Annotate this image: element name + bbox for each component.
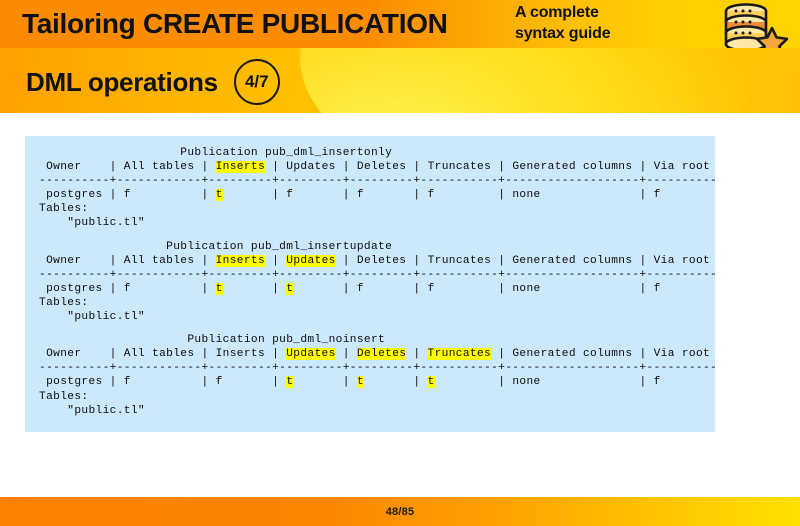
table-entry-text: "public.tl" xyxy=(39,311,145,323)
cell-deletes: f xyxy=(357,189,364,201)
table-header-row: Owner | All tables | Inserts | Updates |… xyxy=(39,347,715,361)
table-separator-text: ----------+------------+---------+------… xyxy=(39,175,715,187)
publication-caption: Publication pub_dml_insertonly xyxy=(39,146,715,160)
cell-text: | xyxy=(223,283,287,295)
column-header-updates: Updates xyxy=(286,348,335,360)
cell-truncates: t xyxy=(428,376,435,388)
table-header-row: Owner | All tables | Inserts | Updates |… xyxy=(39,254,715,268)
table-data-row: postgres | f | t | t | f | f | none | f xyxy=(39,282,715,296)
table-entry: "public.tl" xyxy=(39,216,715,230)
column-header-deletes: Deletes xyxy=(357,348,406,360)
table-header-row: Owner | All tables | Inserts | Updates |… xyxy=(39,160,715,174)
column-header-text: | Generated columns | Via root xyxy=(491,348,710,360)
cell-inserts: t xyxy=(216,283,223,295)
column-header-text: | xyxy=(265,255,286,267)
publication-caption-text: Publication pub_dml_noinsert xyxy=(39,334,385,346)
tables-label: Tables: xyxy=(39,390,715,404)
column-header-text: | xyxy=(336,161,357,173)
cell-text: postgres | f | f | xyxy=(39,376,286,388)
cell-text: | none | f xyxy=(435,376,661,388)
table-separator-row: ----------+------------+---------+------… xyxy=(39,174,715,188)
column-header-deletes: Deletes xyxy=(357,255,406,267)
column-header-text: | xyxy=(336,255,357,267)
column-header-text: Owner | All tables | Inserts | xyxy=(39,348,286,360)
publication-caption-text: Publication pub_dml_insertupdate xyxy=(39,241,392,253)
cell-text: | xyxy=(364,376,428,388)
publication-caption-text: Publication pub_dml_insertonly xyxy=(39,147,392,159)
table-entry: "public.tl" xyxy=(39,310,715,324)
page-number: 48/85 xyxy=(386,506,415,518)
column-header-text: | Generated columns | Via root xyxy=(491,161,710,173)
cell-text: | none | f xyxy=(435,189,661,201)
cell-text: | xyxy=(223,189,287,201)
page-title: Tailoring CREATE PUBLICATION xyxy=(22,5,448,43)
band-swoosh-decoration xyxy=(300,48,760,113)
table-separator-row: ----------+------------+---------+------… xyxy=(39,361,715,375)
table-data-row: postgres | f | f | t | t | t | none | f xyxy=(39,375,715,389)
page-subtitle: A complete syntax guide xyxy=(515,2,610,44)
column-header-text: | xyxy=(265,161,286,173)
column-header-truncates: Truncates xyxy=(428,255,492,267)
column-header-updates: Updates xyxy=(286,255,335,267)
table-entry: "public.tl" xyxy=(39,404,715,418)
tables-label-text: Tables: xyxy=(39,297,88,309)
title-band: Tailoring CREATE PUBLICATION A complete … xyxy=(0,0,800,48)
cell-inserts: t xyxy=(216,189,223,201)
footer-bar: 48/85 xyxy=(0,497,800,526)
table-entry-text: "public.tl" xyxy=(39,217,145,229)
page-title-lead: Tailoring xyxy=(22,8,143,39)
table-separator-text: ----------+------------+---------+------… xyxy=(39,269,715,281)
cell-text: | xyxy=(293,189,357,201)
column-header-deletes: Deletes xyxy=(357,161,406,173)
publication-block: Publication pub_dml_noinsert Owner | All… xyxy=(39,333,715,418)
column-header-inserts: Inserts xyxy=(216,161,265,173)
publication-block: Publication pub_dml_insertonly Owner | A… xyxy=(39,146,715,231)
cell-text: | xyxy=(293,283,357,295)
column-header-text: | Generated columns | Via root xyxy=(491,255,710,267)
column-header-text: | xyxy=(406,348,427,360)
slide-header: Tailoring CREATE PUBLICATION A complete … xyxy=(0,0,800,113)
tables-label-text: Tables: xyxy=(39,391,88,403)
column-header-text: Owner | All tables | xyxy=(39,161,216,173)
table-separator-row: ----------+------------+---------+------… xyxy=(39,268,715,282)
table-data-row: postgres | f | t | f | f | f | none | f xyxy=(39,188,715,202)
publication-caption: Publication pub_dml_noinsert xyxy=(39,333,715,347)
cell-deletes: f xyxy=(357,283,364,295)
step-badge: 4/7 xyxy=(234,59,280,105)
cell-text: | none | f xyxy=(435,283,661,295)
cell-truncates: f xyxy=(428,189,435,201)
publication-caption: Publication pub_dml_insertupdate xyxy=(39,240,715,254)
column-header-truncates: Truncates xyxy=(428,161,492,173)
column-header-text: Owner | All tables | xyxy=(39,255,216,267)
tables-label: Tables: xyxy=(39,296,715,310)
cell-deletes: t xyxy=(357,376,364,388)
column-header-text: | xyxy=(336,348,357,360)
cell-text: postgres | f | xyxy=(39,189,216,201)
table-separator-text: ----------+------------+---------+------… xyxy=(39,362,715,374)
tables-label-text: Tables: xyxy=(39,203,88,215)
publication-block: Publication pub_dml_insertupdate Owner |… xyxy=(39,240,715,325)
cell-text: | xyxy=(364,283,428,295)
column-header-text: | xyxy=(406,161,427,173)
column-header-inserts: Inserts xyxy=(216,255,265,267)
cell-truncates: f xyxy=(428,283,435,295)
column-header-text: | xyxy=(406,255,427,267)
database-star-icon xyxy=(712,2,792,48)
column-header-updates: Updates xyxy=(286,161,335,173)
cell-text: postgres | f | xyxy=(39,283,216,295)
table-entry-text: "public.tl" xyxy=(39,405,145,417)
section-band: DML operations 4/7 xyxy=(0,48,800,113)
section-row: DML operations 4/7 xyxy=(26,59,280,105)
cell-text: | xyxy=(364,189,428,201)
column-header-truncates: Truncates xyxy=(428,348,492,360)
tables-label: Tables: xyxy=(39,202,715,216)
cell-text: | xyxy=(293,376,357,388)
psql-output: Publication pub_dml_insertonly Owner | A… xyxy=(25,146,715,418)
section-title: DML operations xyxy=(26,67,218,98)
page-title-main: CREATE PUBLICATION xyxy=(143,8,448,39)
code-output-panel: Publication pub_dml_insertonly Owner | A… xyxy=(25,136,715,432)
